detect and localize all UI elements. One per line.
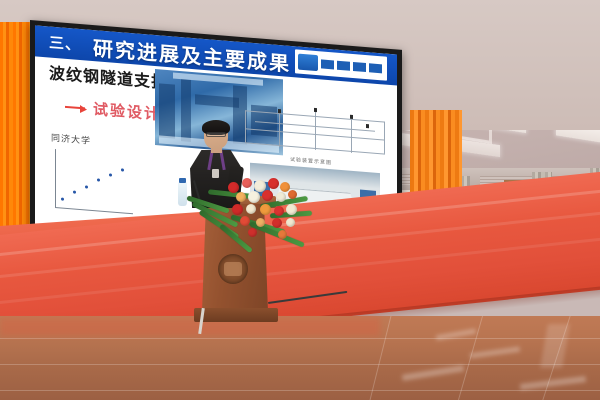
slide-nav-item — [337, 60, 350, 70]
flower-red — [240, 216, 250, 226]
flower-white — [286, 218, 295, 227]
flower-white — [286, 204, 297, 215]
flower-white — [276, 192, 286, 202]
flower-red — [228, 182, 239, 193]
ceiling-light-panel — [456, 139, 500, 157]
flower-red — [232, 204, 243, 215]
slide-bullet-text: 试验设计 — [93, 98, 161, 124]
flower-orange — [260, 204, 271, 215]
flower-orange — [256, 218, 265, 227]
bottle-cap — [179, 178, 186, 183]
flower-white — [248, 191, 260, 203]
flower-red — [274, 206, 284, 216]
podium-base — [194, 308, 278, 322]
name-badge — [212, 169, 219, 178]
conference-presentation-photo: 三、 研究进展及主要成果 波纹钢隧道支护技术研究 试验设计 — [0, 0, 600, 400]
flower-red — [268, 178, 279, 189]
flower-orange — [288, 190, 297, 199]
slide-institution-label: 同济大学 — [51, 131, 91, 147]
slide-cad-caption: 试验装置示意图 — [290, 156, 332, 166]
arrow-icon — [65, 105, 85, 109]
glasses-icon — [206, 132, 226, 137]
slide-cad-diagram — [245, 98, 385, 161]
tiled-floor — [0, 316, 600, 400]
flower-red — [248, 228, 257, 237]
flower-orange — [278, 230, 287, 239]
university-logo-icon — [298, 54, 318, 72]
flower-arrangement — [186, 178, 310, 254]
flower-red — [262, 190, 273, 201]
flower-white — [246, 204, 256, 214]
national-emblem-icon — [218, 254, 248, 284]
flower-red — [242, 178, 252, 188]
flower-red — [272, 218, 282, 228]
slide-section-number: 三、 — [49, 32, 81, 56]
slide-bullet: 试验设计 — [65, 96, 161, 125]
slide-nav-item — [353, 61, 366, 71]
slide-nav-item — [321, 59, 334, 69]
slide-nav-item — [369, 63, 382, 73]
flower-orange — [236, 192, 246, 202]
slide-left-chart — [49, 147, 137, 226]
